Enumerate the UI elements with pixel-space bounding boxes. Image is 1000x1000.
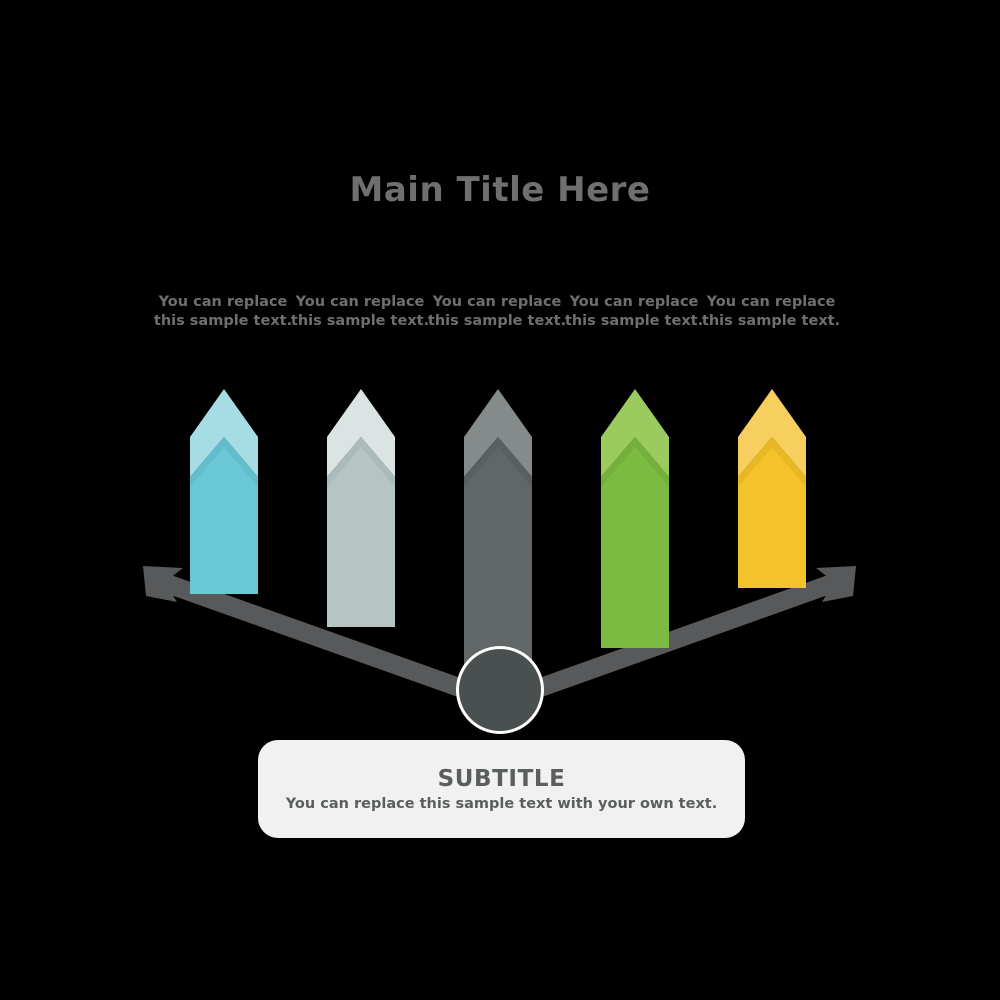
axis-right-limb — [500, 570, 842, 712]
chevron-diagram — [0, 0, 1000, 1000]
step-label-3: You can replace this sample text. — [422, 293, 572, 331]
step-label-4: You can replace this sample text. — [559, 293, 709, 331]
center-hub-group — [456, 646, 544, 734]
step-label-1: You can replace this sample text. — [148, 293, 298, 331]
arrow-pillar-3[interactable] — [464, 389, 532, 690]
step-label-2: You can replace this sample text. — [285, 293, 435, 331]
infographic-canvas: Main Title Here You can replace this sam… — [0, 0, 1000, 1000]
hub-circle-icon[interactable] — [459, 649, 541, 731]
arrow-pillar-4[interactable] — [601, 389, 669, 648]
step-label-5: You can replace this sample text. — [696, 293, 846, 331]
subtitle-card[interactable]: SUBTITLE You can replace this sample tex… — [258, 740, 745, 838]
subtitle-description: You can replace this sample text with yo… — [286, 796, 718, 812]
arrow-pillars-group — [190, 389, 806, 690]
subtitle-heading: SUBTITLE — [438, 766, 566, 792]
arrow-pillar-5[interactable] — [738, 389, 806, 588]
arrow-pillar-2[interactable] — [327, 389, 395, 627]
arrow-pillar-1[interactable] — [190, 389, 258, 594]
